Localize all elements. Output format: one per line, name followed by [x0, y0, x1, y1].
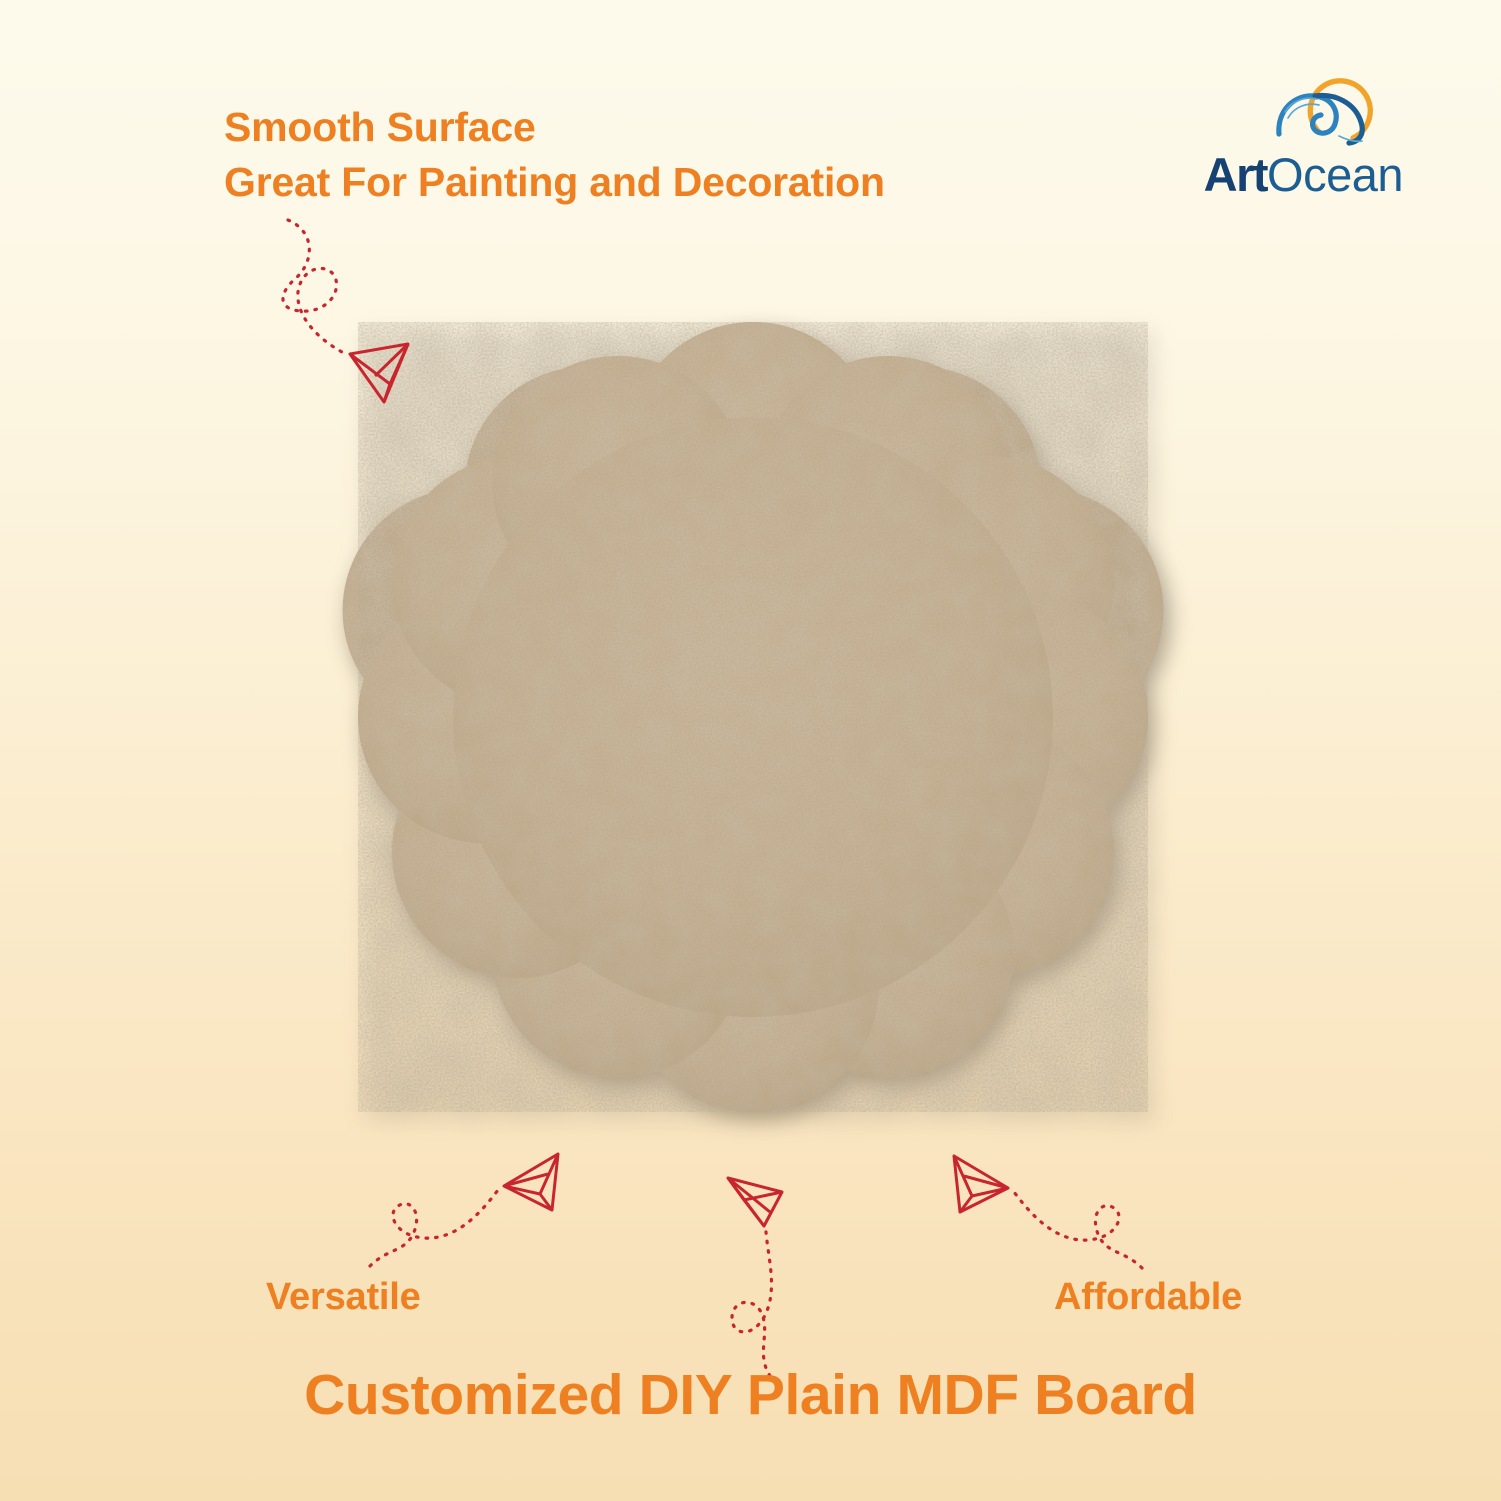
mdf-board-shape [300, 296, 1206, 1176]
brand-wordmark: ArtOcean [1151, 151, 1403, 198]
product-poster: Smooth Surface Great For Painting and De… [0, 0, 1501, 1501]
sun-wave-icon [1261, 72, 1401, 146]
product-image [300, 296, 1206, 1176]
product-title: Customized DIY Plain MDF Board [0, 1362, 1501, 1428]
brand-logo: ArtOcean [1151, 72, 1403, 198]
headline-line-2: Great For Painting and Decoration [224, 155, 885, 210]
feature-label-affordable: Affordable [1054, 1276, 1242, 1319]
paper-plane-doodle-bottom-center [712, 1168, 822, 1388]
headline: Smooth Surface Great For Painting and De… [224, 100, 885, 211]
brand-name-art: Art [1204, 148, 1267, 201]
brand-name-ocean: Ocean [1267, 148, 1403, 201]
feature-label-versatile: Versatile [266, 1276, 421, 1319]
headline-line-1: Smooth Surface [224, 100, 885, 155]
